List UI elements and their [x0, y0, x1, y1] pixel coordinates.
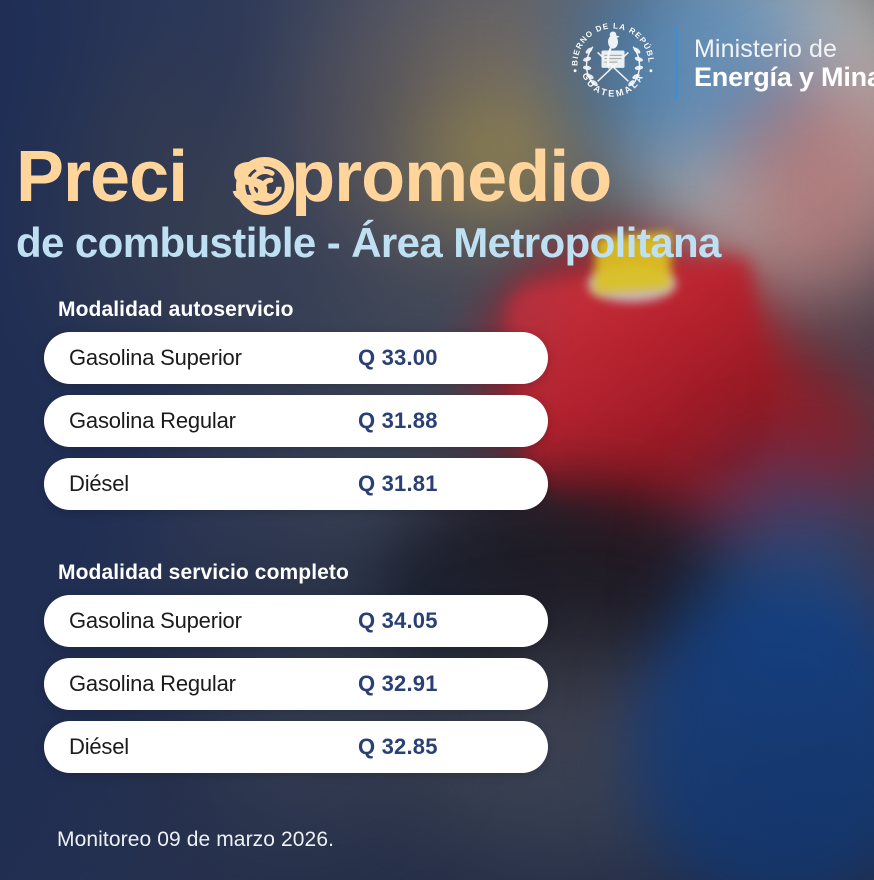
fuel-price-poster: GOBIERNO DE LA REPÚBLICA GUATEMALA [0, 0, 874, 880]
price-row[interactable]: Gasolina Regular Q 31.88 [44, 395, 548, 447]
page-title-word-2: promedio [291, 137, 611, 217]
fuel-name: Diésel [69, 471, 129, 497]
ministry-name-line-2: Energía y Minas [694, 63, 874, 92]
page-title-part-1: Preci [16, 137, 187, 217]
guatemala-government-seal-icon: GOBIERNO DE LA REPÚBLICA GUATEMALA [565, 16, 661, 112]
page-title: Preciospromedio [16, 141, 611, 213]
fuel-price: Q 32.85 [358, 734, 548, 760]
fuel-price: Q 32.91 [358, 671, 548, 697]
price-row[interactable]: Diésel Q 31.81 [44, 458, 548, 510]
fuel-price: Q 31.81 [358, 471, 548, 497]
section-self-service-heading: Modalidad autoservicio [58, 298, 564, 322]
fuel-price: Q 33.00 [358, 345, 548, 371]
section-full-service: Modalidad servicio completo Gasolina Sup… [44, 561, 564, 784]
section-full-service-heading: Modalidad servicio completo [58, 561, 564, 585]
price-row[interactable]: Gasolina Superior Q 34.05 [44, 595, 548, 647]
ministry-name-line-1: Ministerio de [694, 36, 874, 63]
fuel-name: Diésel [69, 734, 129, 760]
price-row[interactable]: Gasolina Superior Q 33.00 [44, 332, 548, 384]
fuel-name: Gasolina Superior [69, 345, 242, 371]
section-self-service: Modalidad autoservicio Gasolina Superior… [44, 298, 564, 521]
monitoring-date-note: Monitoreo 09 de marzo 2026. [57, 828, 334, 852]
page-title-part-2: s [230, 137, 269, 217]
ministry-name: Ministerio de Energía y Minas [694, 36, 874, 91]
price-row[interactable]: Diésel Q 32.85 [44, 721, 548, 773]
price-row[interactable]: Gasolina Regular Q 32.91 [44, 658, 548, 710]
fuel-name: Gasolina Superior [69, 608, 242, 634]
fuel-name: Gasolina Regular [69, 408, 236, 434]
logo-divider-line [675, 28, 678, 100]
fuel-price: Q 34.05 [358, 608, 548, 634]
fuel-price: Q 31.88 [358, 408, 548, 434]
page-subtitle: de combustible - Área Metropolitana [16, 222, 721, 264]
fuel-name: Gasolina Regular [69, 671, 236, 697]
ministry-logo-lockup: GOBIERNO DE LA REPÚBLICA GUATEMALA [565, 16, 874, 112]
